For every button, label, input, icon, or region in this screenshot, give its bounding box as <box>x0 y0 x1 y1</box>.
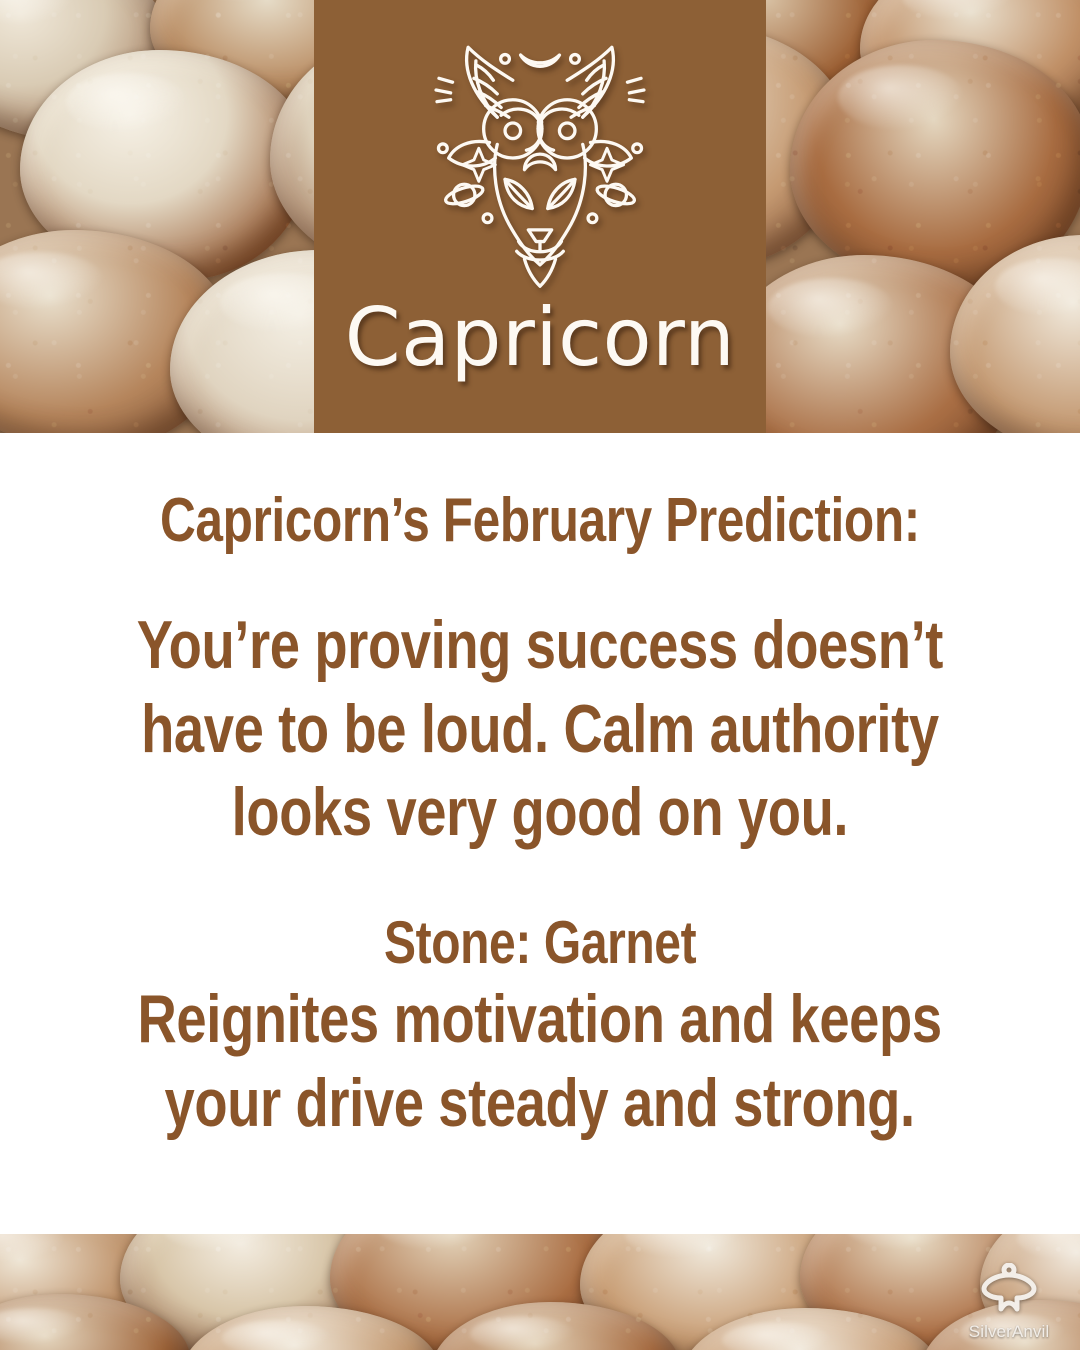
brand-watermark: SilverAnvil <box>956 1263 1062 1342</box>
stone-description-line: Reignites motivation and keeps <box>138 978 942 1062</box>
brand-name: SilverAnvil <box>969 1322 1049 1342</box>
page-title: Capricorn’s February Prediction: <box>160 489 920 552</box>
prediction-line: looks very good on you. <box>137 771 943 855</box>
prediction-line: You’re proving success doesn’t <box>137 604 943 688</box>
zodiac-sign-name: Capricorn <box>345 298 735 378</box>
stone-photo-bottom <box>0 1234 1080 1350</box>
social-post-canvas: Capricorn Capricorn’s February Predictio… <box>0 0 1080 1350</box>
stone-label: Stone: Garnet <box>384 909 696 976</box>
zodiac-panel: Capricorn <box>314 0 766 433</box>
prediction-text: You’re proving success doesn’t have to b… <box>137 604 943 855</box>
capricorn-goat-head-icon <box>404 22 676 294</box>
prediction-line: have to be loud. Calm authority <box>137 688 943 772</box>
anvil-icon <box>977 1263 1041 1321</box>
prediction-content: Capricorn’s February Prediction: You’re … <box>0 433 1080 1234</box>
stone-description: Reignites motivation and keeps your driv… <box>138 978 942 1145</box>
stone-description-line: your drive steady and strong. <box>138 1062 942 1146</box>
